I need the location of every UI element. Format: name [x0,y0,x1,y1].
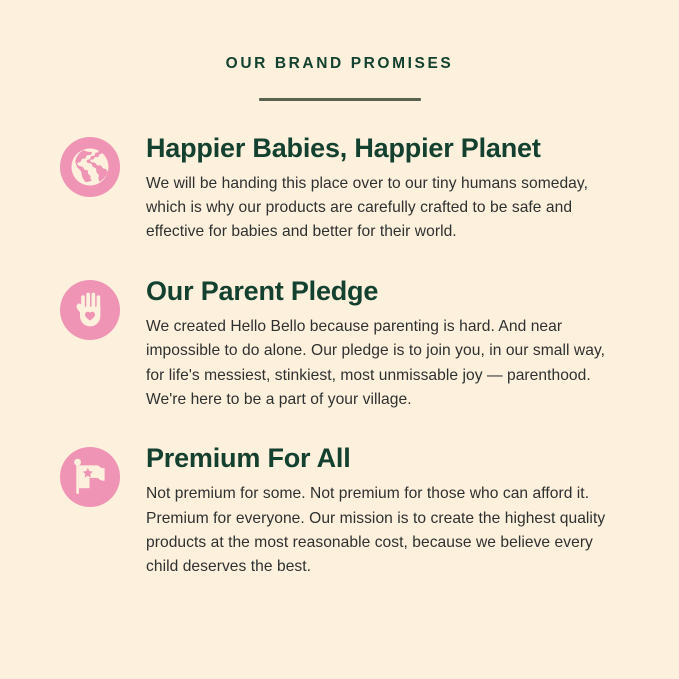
promise-body: Premium For All Not premium for some. No… [146,443,624,579]
promises-list: Happier Babies, Happier Planet We will b… [0,133,679,580]
promise-heading: Our Parent Pledge [146,276,624,306]
hand-heart-icon [60,280,120,340]
page-header: OUR BRAND PROMISES [0,0,679,101]
promise-heading: Premium For All [146,443,624,473]
promise-text: We will be handing this place over to ou… [146,172,624,245]
globe-icon [60,137,120,197]
title-divider-wrap [0,98,679,101]
promise-item: Our Parent Pledge We created Hello Bello… [60,276,624,412]
promise-item: Happier Babies, Happier Planet We will b… [60,133,624,245]
brand-promises-page: OUR BRAND PROMISES Happier Babies, Happi… [0,0,679,679]
promise-text: Not premium for some. Not premium for th… [146,482,624,579]
page-title: OUR BRAND PROMISES [0,56,679,72]
promise-body: Our Parent Pledge We created Hello Bello… [146,276,624,412]
promise-body: Happier Babies, Happier Planet We will b… [146,133,624,245]
title-divider [259,98,421,101]
promise-item: Premium For All Not premium for some. No… [60,443,624,579]
promise-text: We created Hello Bello because parenting… [146,315,624,412]
promise-heading: Happier Babies, Happier Planet [146,133,624,163]
flag-star-icon [60,447,120,507]
